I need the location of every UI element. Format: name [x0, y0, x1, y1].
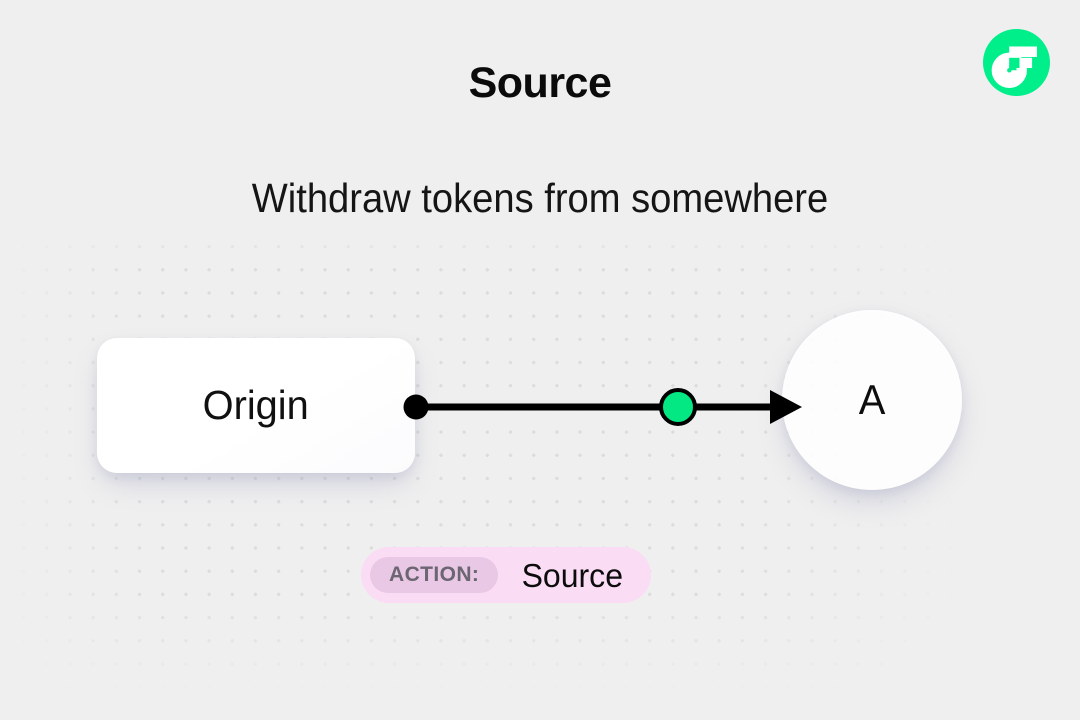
action-badge: ACTION: Source	[361, 547, 651, 603]
node-origin[interactable]: Origin	[97, 338, 415, 473]
edge-token-dot	[661, 390, 695, 424]
action-badge-key: ACTION:	[370, 557, 498, 593]
node-a-label: A	[859, 376, 886, 424]
diagram-canvas: Source Withdraw tokens from somewhere Or…	[0, 0, 1080, 720]
node-a[interactable]: A	[782, 310, 962, 490]
page-subtitle: Withdraw tokens from somewhere	[38, 178, 1042, 219]
node-origin-label: Origin	[203, 382, 309, 429]
flow-logo-icon	[983, 29, 1050, 96]
page-title: Source	[0, 62, 1080, 105]
action-badge-value: Source	[522, 559, 623, 592]
